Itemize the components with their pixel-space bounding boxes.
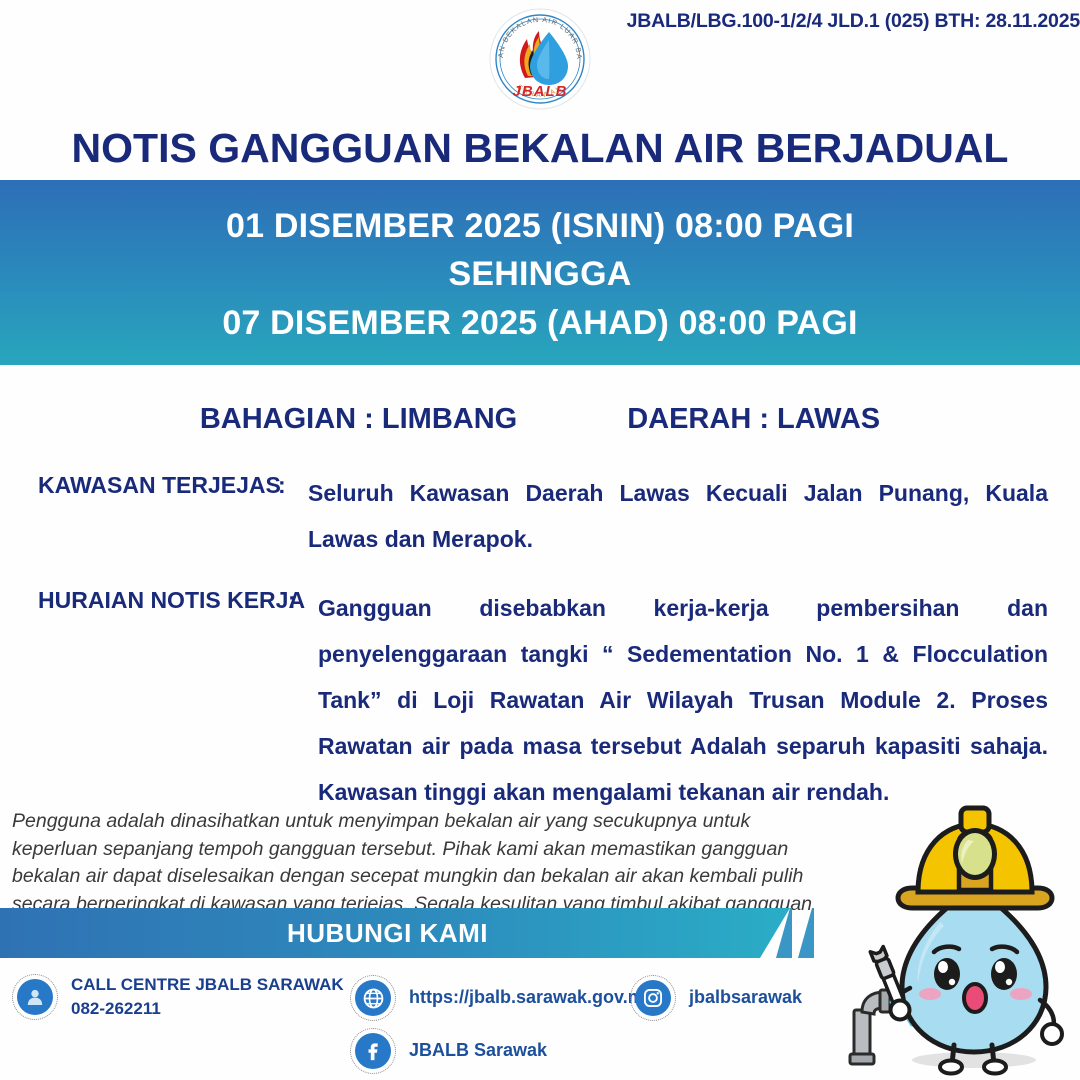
instagram-handle: jbalbsarawak [689, 985, 802, 1011]
contact-website[interactable]: https://jbalb.sarawak.gov.my/ [350, 975, 659, 1021]
facebook-page: JBALB Sarawak [409, 1038, 547, 1064]
contact-call-text: CALL CENTRE JBALB SARAWAK 082-262211 [71, 973, 344, 1021]
detail-label: KAWASAN TERJEJAS [38, 470, 278, 499]
contact-facebook[interactable]: JBALB Sarawak [350, 1028, 547, 1074]
water-droplet-plumber-mascot [842, 802, 1078, 1080]
contact-call-centre[interactable]: CALL CENTRE JBALB SARAWAK 082-262211 [12, 973, 344, 1021]
detail-colon: : [278, 470, 308, 499]
detail-affected-area: KAWASAN TERJEJAS : Seluruh Kawasan Daera… [38, 470, 1048, 562]
detail-value: Gangguan disebabkan kerja-kerja pembersi… [318, 585, 1048, 815]
globe-icon [355, 980, 391, 1016]
division-label: BAHAGIAN : LIMBANG [200, 403, 517, 436]
contact-instagram[interactable]: jbalbsarawak [630, 975, 802, 1021]
instagram-icon [635, 980, 671, 1016]
region-row: BAHAGIAN : LIMBANG DAERAH : LAWAS [0, 403, 1080, 436]
detail-label: HURAIAN NOTIS KERJA [38, 585, 288, 614]
district-label: DAERAH : LAWAS [627, 403, 880, 436]
call-centre-name: CALL CENTRE JBALB SARAWAK [71, 975, 344, 994]
svg-text:JBALB: JBALB [512, 83, 567, 100]
jbalb-logo: JABATAN BEKALAN AIR LUAR BANDAR SARAWAK … [487, 6, 593, 112]
detail-colon: : [288, 585, 318, 614]
website-url: https://jbalb.sarawak.gov.my/ [409, 985, 659, 1011]
page-title: NOTIS GANGGUAN BEKALAN AIR BERJADUAL [0, 125, 1080, 172]
reference-number: JBALB/LBG.100-1/2/4 JLD.1 (025) BTH: 28.… [627, 10, 1080, 33]
person-icon [17, 979, 53, 1015]
instagram-icon-ring [630, 975, 676, 1021]
date-banner: 01 DISEMBER 2025 (ISNIN) 08:00 PAGI SEHI… [0, 180, 1080, 365]
facebook-icon-ring [350, 1028, 396, 1074]
detail-value: Seluruh Kawasan Daerah Lawas Kecuali Jal… [308, 470, 1048, 562]
globe-icon-ring [350, 975, 396, 1021]
call-centre-phone: 082-262211 [71, 997, 344, 1021]
notice-poster: JBALB/LBG.100-1/2/4 JLD.1 (025) BTH: 28.… [0, 0, 1080, 1080]
facebook-icon [355, 1033, 391, 1069]
date-end: 07 DISEMBER 2025 (AHAD) 08:00 PAGI [222, 299, 857, 347]
date-separator: SEHINGGA [449, 250, 632, 298]
person-icon-ring [12, 974, 58, 1020]
date-start: 01 DISEMBER 2025 (ISNIN) 08:00 PAGI [226, 202, 854, 250]
contact-bar-label: HUBUNGI KAMI [0, 908, 775, 958]
detail-work-description: HURAIAN NOTIS KERJA : Gangguan disebabka… [38, 585, 1048, 815]
